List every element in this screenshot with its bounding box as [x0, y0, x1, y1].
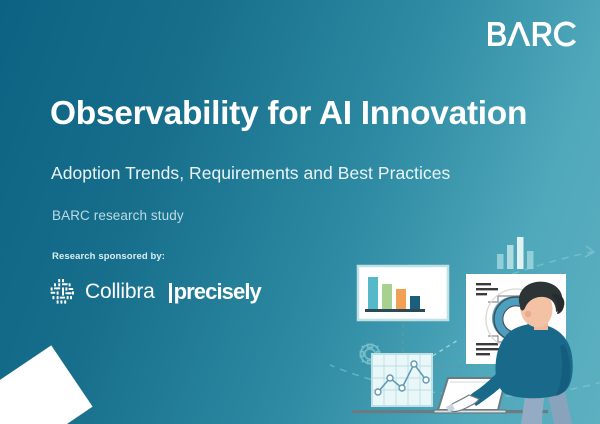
precisely-bar-icon: [169, 283, 173, 303]
sponsor-logos: Collibra precisely: [47, 272, 261, 312]
cover-slide: Observability for AI Innovation Adoption…: [0, 0, 600, 424]
precisely-logo: precisely: [169, 279, 261, 305]
decorative-bar-group: [497, 237, 534, 269]
collibra-grid-icon: [47, 277, 77, 307]
precisely-wordmark: precisely: [174, 279, 261, 305]
bar-chart-card: [358, 266, 448, 320]
page-subtitle: Adoption Trends, Requirements and Best P…: [51, 163, 450, 184]
barc-logo: [486, 20, 578, 54]
collibra-wordmark: Collibra: [85, 280, 155, 304]
decorative-corner-shape: [0, 345, 93, 424]
sponsor-label: Research sponsored by:: [52, 251, 165, 262]
study-type-label: BARC research study: [52, 208, 184, 223]
collibra-logo: Collibra: [47, 277, 155, 307]
line-chart-card: [372, 354, 432, 406]
page-title: Observability for AI Innovation: [50, 96, 580, 131]
data-analytics-illustration: [330, 232, 600, 424]
